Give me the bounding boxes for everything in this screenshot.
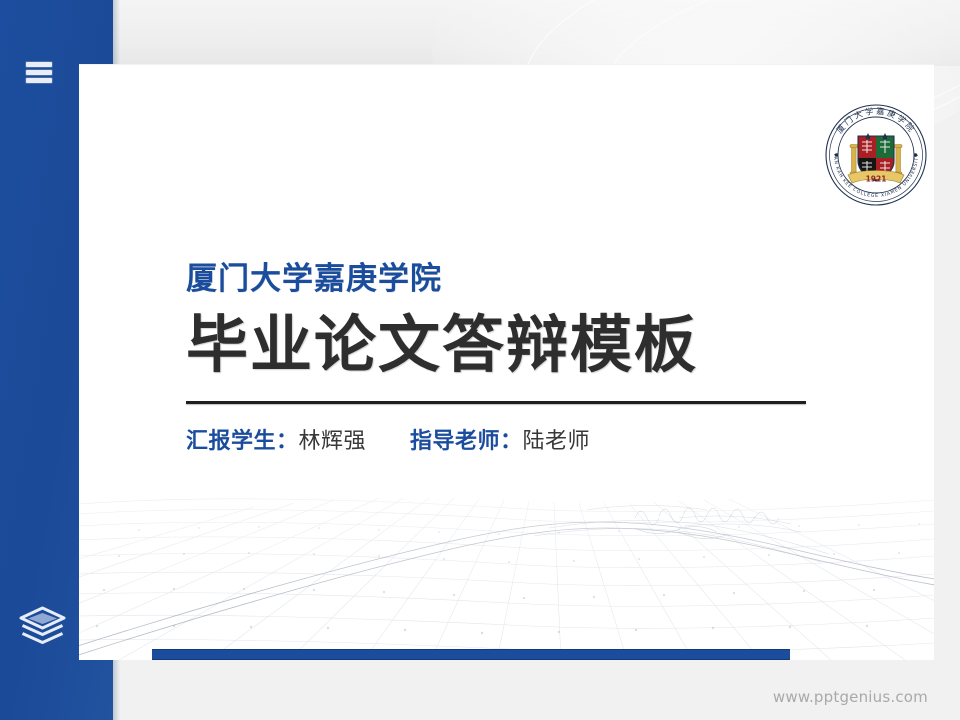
presenter-name: 林辉强 <box>299 429 367 454</box>
hamburger-bar-1 <box>26 62 52 67</box>
crest-banner-year: 1921 <box>866 174 887 183</box>
stacked-layers-glyph <box>17 604 68 648</box>
wireframe-terrain-graphic <box>79 470 934 660</box>
page-title: 毕业论文答辩模板 <box>186 312 846 379</box>
byline-row: 汇报学生：林辉强指导老师：陆老师 <box>186 428 846 457</box>
presenter-label: 汇报学生： <box>186 429 299 454</box>
hamburger-bar-2 <box>26 70 52 75</box>
slide-bottom-accent-bar <box>152 649 790 660</box>
university-crest-logo: 厦门大学嘉庚学院 TAN KAH KEE COLLEGE XIAMEN UNIV… <box>824 103 928 207</box>
slide-canvas: 厦门大学嘉庚学院 TAN KAH KEE COLLEGE XIAMEN UNIV… <box>79 64 934 660</box>
stacked-layers-icon[interactable] <box>17 604 68 648</box>
site-watermark: www.pptgenius.com <box>773 688 928 706</box>
slide-top-edge <box>79 64 934 65</box>
advisor-name: 陆老师 <box>523 429 591 454</box>
presentation-slide-view: 厦门大学嘉庚学院 TAN KAH KEE COLLEGE XIAMEN UNIV… <box>0 0 960 720</box>
title-divider-rule <box>186 401 806 404</box>
school-name-heading: 厦门大学嘉庚学院 <box>186 262 846 296</box>
university-crest-svg: 厦门大学嘉庚学院 TAN KAH KEE COLLEGE XIAMEN UNIV… <box>824 103 928 207</box>
hamburger-menu-icon[interactable] <box>26 62 52 83</box>
slide-text-block: 厦门大学嘉庚学院 毕业论文答辩模板 汇报学生：林辉强指导老师：陆老师 <box>186 262 846 457</box>
hamburger-bar-3 <box>26 78 52 83</box>
advisor-label: 指导老师： <box>410 429 523 454</box>
